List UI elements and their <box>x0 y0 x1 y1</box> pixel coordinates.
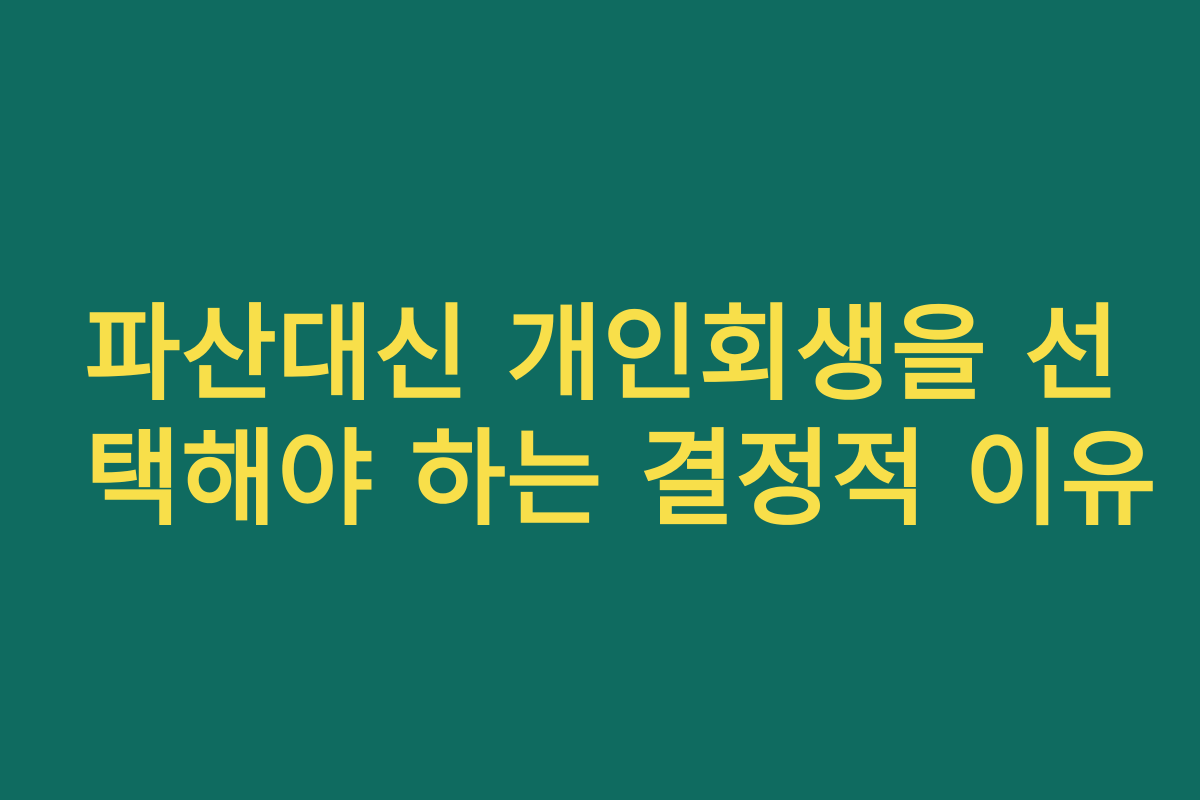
headline-block: 파산대신 개인회생을 선 택해야 하는 결정적 이유 <box>85 292 1115 542</box>
headline-line-2: 택해야 하는 결정적 이유 <box>85 417 1115 542</box>
headline-line-1: 파산대신 개인회생을 선 <box>85 292 1115 417</box>
headline-title: 파산대신 개인회생을 선 택해야 하는 결정적 이유 <box>85 292 1115 542</box>
title-card: 파산대신 개인회생을 선 택해야 하는 결정적 이유 <box>0 0 1200 800</box>
